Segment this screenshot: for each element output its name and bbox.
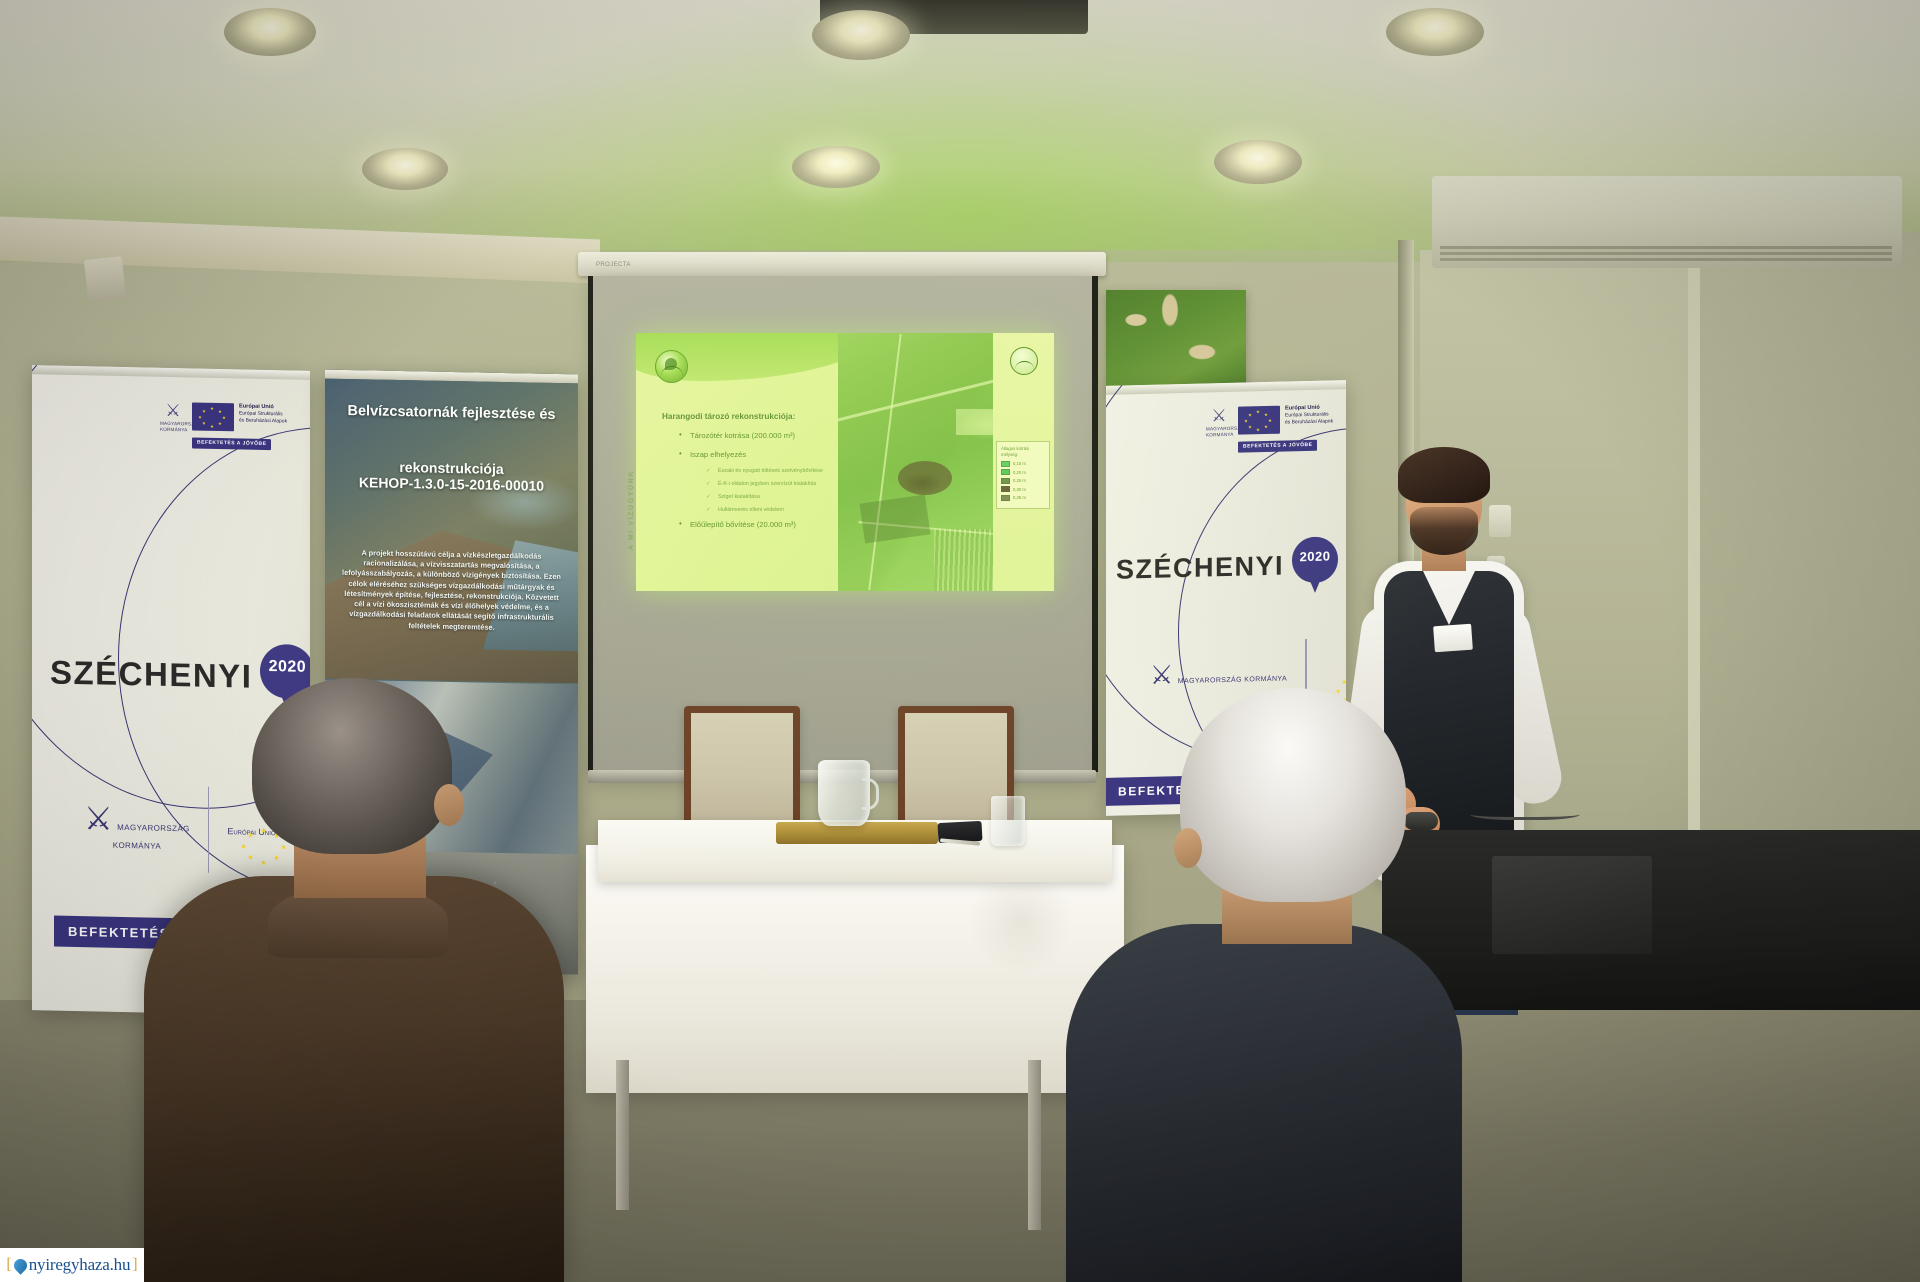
- legend-row: 0,25 m: [1001, 478, 1046, 484]
- invest-in-future-bar: BEFEKTETÉS A JÖVŐBE: [1238, 439, 1317, 452]
- table-leg: [616, 1060, 629, 1210]
- hungary-crest: ⚔ MAGYARORSZÁG KORMÁNYA: [160, 402, 186, 433]
- audience-left-ear: [434, 784, 464, 826]
- map-road-secondary: [868, 334, 901, 590]
- slide-heading: Harangodi tározó rekonstrukciója:: [662, 412, 795, 421]
- ceiling-downlight-5: [792, 146, 880, 188]
- screen-left-edge: [588, 276, 593, 772]
- legend-row: 0,30 m: [1001, 486, 1046, 492]
- watermark-bracket-left: [: [6, 1256, 11, 1274]
- eu-stars: ★★ ★★ ★★ ★★: [1238, 406, 1280, 435]
- legend-row: 0,15 m: [1001, 461, 1046, 467]
- eu-stars: ★★ ★★ ★★ ★★: [192, 402, 234, 431]
- legend-title: Átlagos kotrási mélység:: [1001, 446, 1046, 458]
- szechenyi-wordmark: SZÉCHENYI: [1116, 550, 1284, 585]
- table-leg: [1028, 1060, 1041, 1230]
- ceiling-downlight-2: [812, 10, 910, 60]
- eu-subtitle-2: és Beruházási Alapok: [239, 417, 287, 424]
- legend-label: 0,25 m: [1013, 478, 1026, 483]
- audience-member-grey-hair: [118, 678, 568, 1282]
- air-conditioner-vent: [1440, 246, 1892, 262]
- watermark-bracket-right: ]: [132, 1256, 137, 1274]
- audience-right-torso: [1066, 924, 1462, 1282]
- ceiling-downlight-1: [224, 8, 316, 56]
- slide-vertical-slogan: A MI VÍZÜGYÜNK: [628, 470, 635, 550]
- water-authority-logo-small-icon: [1010, 347, 1038, 375]
- eu-flag-icon: ★★ ★★ ★★ ★★: [192, 402, 234, 431]
- legend-swatch: [1001, 486, 1010, 492]
- eu-funding-logo-block: ⚔ MAGYARORSZÁG KORMÁNYA ★★ ★★ ★★ ★★ Euró…: [160, 402, 287, 451]
- crest-icon: ⚔: [160, 402, 186, 420]
- eu-funding-logo-block: ⚔ MAGYARORSZÁG KORMÁNYA ★★ ★★ ★★ ★★ Euró…: [1206, 404, 1333, 453]
- ceiling-downlight-6: [1214, 140, 1302, 184]
- water-drop-icon: [11, 1256, 29, 1274]
- legend-row: 0,35 m: [1001, 495, 1046, 501]
- eu-logo-group: ★★ ★★ ★★ ★★ Európai Unió Európai Struktu…: [192, 402, 287, 450]
- banner-title-line1: Belvízcsatornák fejlesztése és: [348, 403, 556, 423]
- banner-project-description: A projekt hosszútávú célja a vízkészletg…: [339, 548, 564, 634]
- wall-map-poster: [1106, 290, 1246, 394]
- projected-slide: Felső-Tisza-vidéki Vízügyi Igazgatóság H…: [636, 333, 1054, 591]
- eu-title: Európai Unió: [239, 403, 274, 410]
- presenter-beard: [1410, 507, 1478, 555]
- eu-subtitle-2: és Beruházási Alapok: [1285, 418, 1333, 425]
- hungary-crest: ⚔ MAGYARORSZÁG KORMÁNYA: [1206, 407, 1232, 438]
- ceiling-downlight-3: [1386, 8, 1484, 56]
- banner-project-code: rekonstrukciója KEHOP-1.3.0-15-2016-0001…: [335, 458, 568, 494]
- slide-aerial-map: Átlagos kotrási mélység: 0,15 m 0,20 m 0…: [838, 333, 1054, 591]
- eu-text-lines: Európai Unió Európai Strukturális és Ber…: [1285, 404, 1333, 425]
- door-frame: [1688, 232, 1920, 932]
- legend-swatch: [1001, 461, 1010, 467]
- presenter-name-badge: [1433, 624, 1473, 653]
- legend-swatch: [1001, 495, 1010, 501]
- table-cloth: [586, 845, 1124, 1093]
- crest-icon-large: ⚔: [1150, 659, 1173, 690]
- chair-backrest: [684, 706, 800, 828]
- water-pitcher: [818, 760, 870, 826]
- legend-row: 0,20 m: [1001, 469, 1046, 475]
- legend-label: 0,20 m: [1013, 470, 1026, 475]
- hungary-crest-label: MAGYARORSZÁG KORMÁNYA: [160, 421, 186, 433]
- legend-label: 0,30 m: [1013, 487, 1026, 492]
- audience-right-ear: [1174, 828, 1202, 868]
- invest-in-future-bar: BEFEKTETÉS A JÖVŐBE: [192, 437, 271, 450]
- audience-right-hair: [1180, 688, 1406, 902]
- eu-flag-icon: ★★ ★★ ★★ ★★: [1238, 406, 1280, 435]
- projector-green-glow: [420, 0, 1520, 250]
- site-watermark: [ nyiregyhaza.hu ]: [0, 1248, 144, 1282]
- eu-title: Európai Unió: [1285, 405, 1320, 412]
- audience-left-hair: [252, 678, 452, 854]
- legend-swatch: [1001, 478, 1010, 484]
- szechenyi-2020-logo: SZÉCHENYI 2020: [1116, 536, 1338, 597]
- cable: [1470, 806, 1580, 820]
- hungary-crest-large: ⚔ MAGYARORSZÁG KORMÁNYA: [1150, 658, 1287, 688]
- screen-brand-label: PROJECTA: [596, 262, 631, 268]
- water-authority-logo-icon: [655, 350, 688, 383]
- eu-logo-group: ★★ ★★ ★★ ★★ Európai Unió Európai Struktu…: [1238, 404, 1333, 452]
- hungary-crest-label: MAGYARORSZÁG KORMÁNYA: [1206, 426, 1232, 438]
- conference-room-photo: PROJECTA Felső-Tisza-vidéki Vízügyi Igaz…: [0, 0, 1920, 1282]
- audience-member-white-hair: [1062, 688, 1462, 1282]
- hungary-crest-line1: MAGYARORSZÁG KORMÁNYA: [1178, 675, 1287, 685]
- presenter-hair: [1398, 447, 1490, 503]
- drinking-glass: [991, 796, 1025, 846]
- map-field-dark: [860, 495, 931, 544]
- legend-label: 0,15 m: [1013, 461, 1026, 466]
- pin-year-label: 2020: [260, 658, 310, 677]
- slide-legend-panel: Átlagos kotrási mélység: 0,15 m 0,20 m 0…: [993, 333, 1054, 591]
- legend-label: 0,35 m: [1013, 495, 1026, 500]
- legend-swatch: [1001, 469, 1010, 475]
- ceiling-downlight-4: [362, 148, 448, 190]
- crest-icon-large: ⚔: [84, 800, 113, 837]
- laptop[interactable]: [1492, 856, 1652, 954]
- eu-text-lines: Európai Unió Európai Strukturális és Ber…: [239, 403, 287, 424]
- wall-speaker: [84, 256, 126, 302]
- map-reservoir-area: [898, 461, 952, 495]
- watermark-text: nyiregyhaza.hu: [29, 1255, 131, 1275]
- slide-legend: Átlagos kotrási mélység: 0,15 m 0,20 m 0…: [996, 441, 1050, 509]
- projection-screen-case: [578, 252, 1106, 276]
- crest-icon: ⚔: [1206, 407, 1232, 425]
